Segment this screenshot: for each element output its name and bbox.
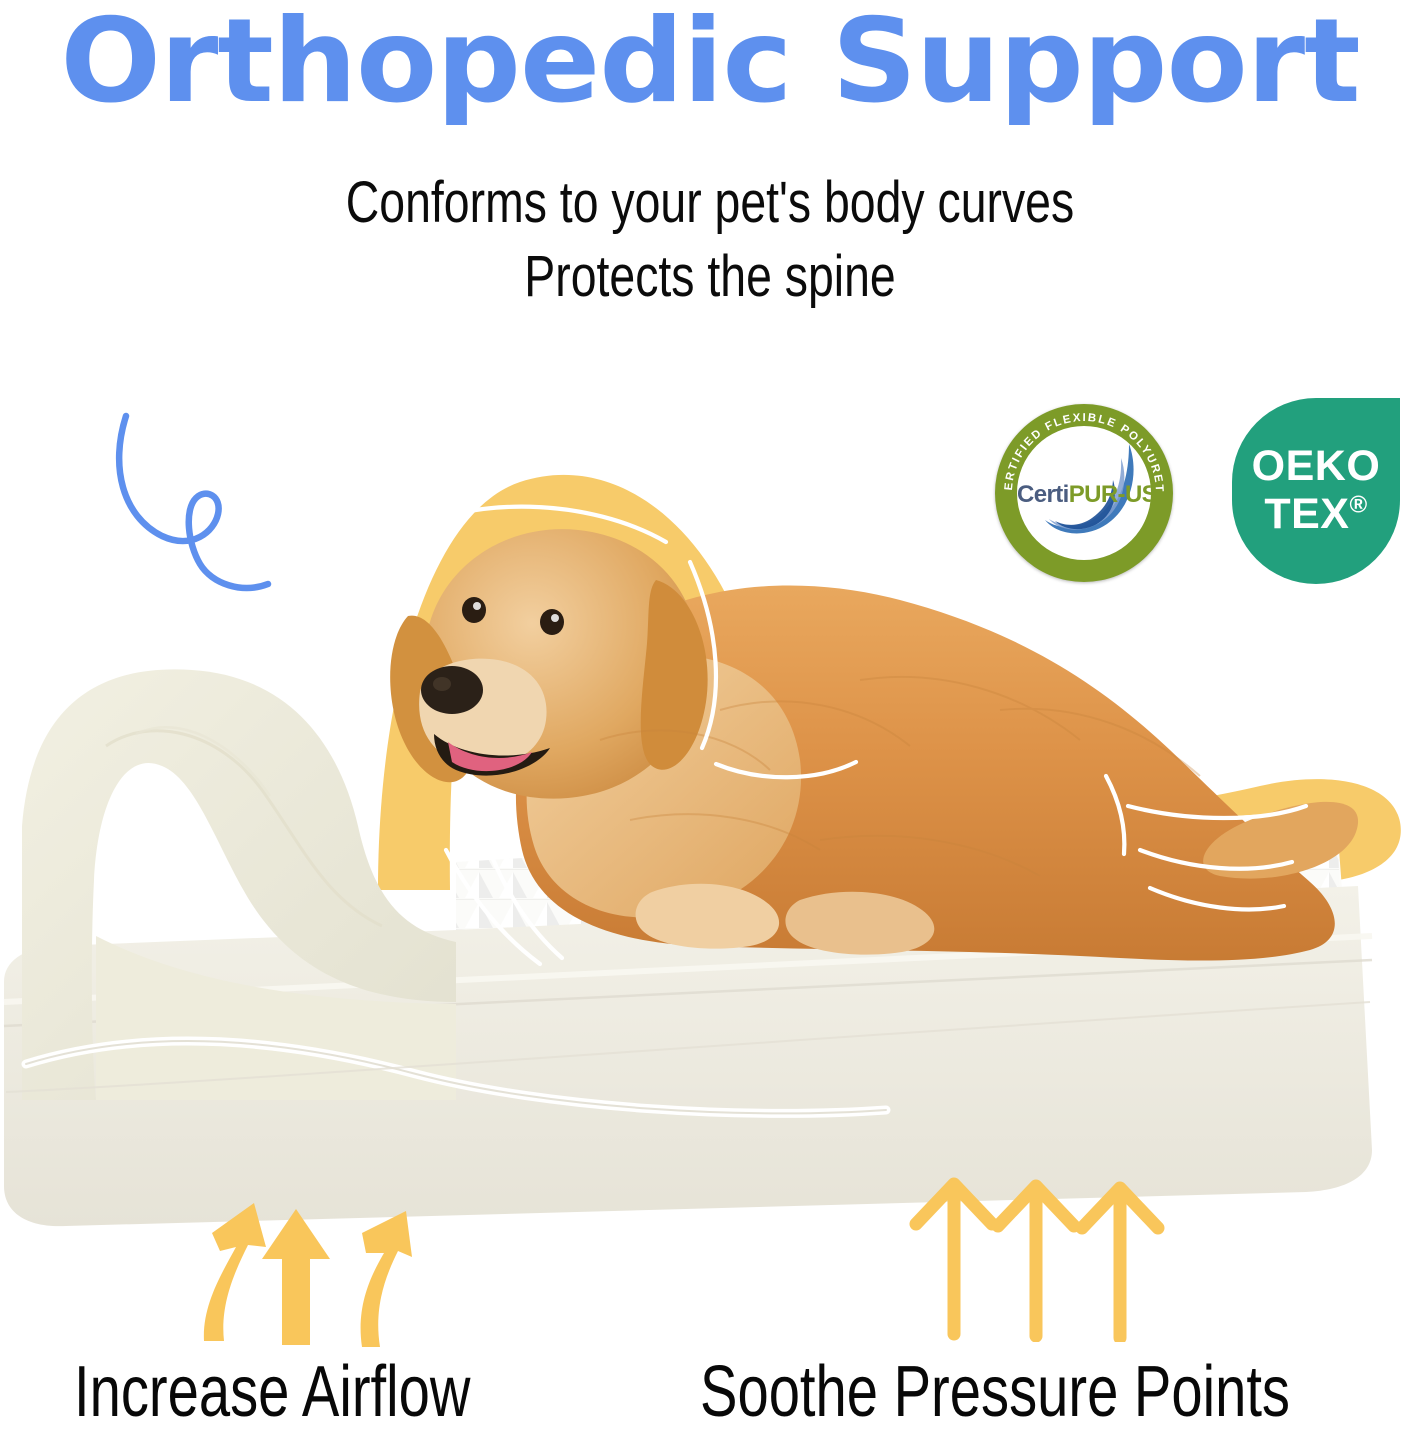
subtitle-line-2: Protects the spine	[142, 248, 1278, 306]
certipur-wordmark-part2: PUR-US	[1069, 481, 1151, 508]
page-title: Orthopedic Support	[0, 4, 1420, 120]
caption-soothe-pressure: Soothe Pressure Points	[700, 1356, 1290, 1428]
airflow-arrows-group	[150, 1155, 460, 1355]
airflow-arrow-3	[361, 1211, 412, 1347]
subtitle-line-1: Conforms to your pet's body curves	[142, 174, 1278, 232]
airflow-arrow-1	[204, 1203, 266, 1341]
pressure-arrows-group	[900, 1162, 1170, 1342]
airflow-arrow-2	[262, 1209, 330, 1345]
certipur-wordmark: CertiPUR-US®	[1017, 481, 1151, 509]
certipur-wordmark-part1: Certi	[1017, 481, 1069, 508]
caption-increase-airflow: Increase Airflow	[74, 1356, 470, 1428]
